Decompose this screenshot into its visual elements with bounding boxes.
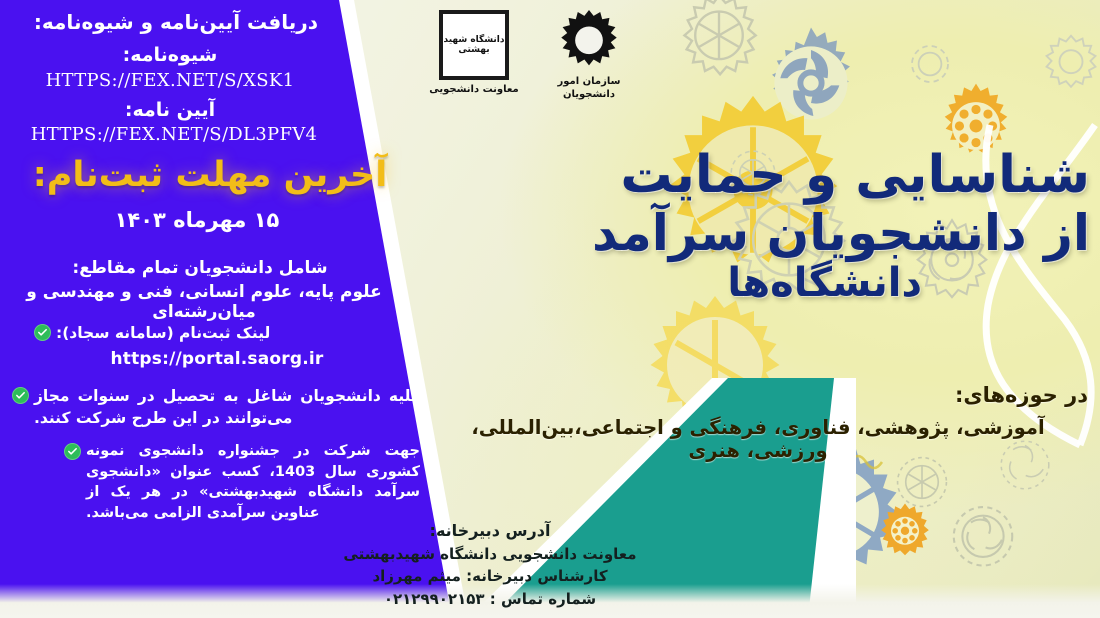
gear-outline-far-right	[1035, 30, 1100, 102]
university-logo-caption: معاونت دانشجویی	[418, 83, 530, 96]
university-emblem-text: دانشگاه شهید بهشتی	[443, 35, 505, 56]
contact-department: معاونت دانشجویی دانشگاه شهیدبهشتی	[300, 543, 680, 566]
headline-line-1: شناسایی و حمایت	[410, 148, 1090, 203]
bullet-text: جهت شرکت در جشنواره دانشجوی نمونه کشوری …	[86, 441, 420, 523]
headline-line-2: از دانشجویان سرآمد	[410, 207, 1090, 260]
method-url[interactable]: HTTPS://FEX.NET/S/XSK1	[0, 70, 340, 91]
bullet-item: کلیه دانشجویان شاغل به تحصیل در سنوات مج…	[12, 385, 420, 429]
fields-block: در حوزه‌های: آموزشی، پژوهشی، فناوری، فره…	[428, 383, 1088, 462]
deadline-date: ۱۵ مهرماه ۱۴۰۳	[0, 208, 394, 232]
scope-line-2: علوم پایه، علوم انسانی، فنی و مهندسی و م…	[0, 282, 408, 322]
check-circle-icon	[34, 324, 51, 341]
contact-person: کارشناس دبیرخانه: میثم مهرزاد	[300, 565, 680, 588]
registration-url[interactable]: https://portal.saorg.ir	[34, 347, 370, 371]
contact-block: آدرس دبیرخانه: معاونت دانشجویی دانشگاه ش…	[300, 519, 680, 611]
fields-list: آموزشی، پژوهشی، فناوری، فرهنگی و اجتماعی…	[428, 416, 1088, 462]
regulation-label: آیین نامه:	[0, 99, 340, 121]
downloads-heading: دریافت آیین‌نامه و شیوه‌نامه:	[0, 8, 352, 37]
gear-outline-top-a	[665, 0, 773, 98]
scope-line-1: شامل دانشجویان تمام مقاطع:	[0, 258, 400, 278]
deadline-title: آخرین مهلت ثبت‌نام:	[0, 155, 420, 195]
fields-title: در حوزه‌های:	[428, 383, 1088, 407]
organization-emblem-icon	[553, 6, 625, 72]
university-logo: دانشگاه شهید بهشتی معاونت دانشجویی	[418, 10, 530, 96]
bullet-item: لینک ثبت‌نام (سامانه سجاد): https://port…	[34, 322, 370, 371]
organization-logo-caption-1: سازمان امور	[530, 75, 648, 88]
organization-logo-caption-2: دانشجویان	[530, 88, 648, 101]
poster-canvas: دریافت آیین‌نامه و شیوه‌نامه: شیوه‌نامه:…	[0, 0, 1100, 618]
bullet-text: لینک ثبت‌نام (سامانه سجاد):	[56, 322, 270, 344]
gear-outline-small-top	[900, 34, 960, 94]
university-emblem-icon: دانشگاه شهید بهشتی	[439, 10, 509, 80]
bullet-item: جهت شرکت در جشنواره دانشجوی نمونه کشوری …	[64, 441, 420, 523]
check-circle-icon	[12, 387, 29, 404]
organization-logo: سازمان امور دانشجویان	[530, 6, 648, 101]
bullet-text: کلیه دانشجویان شاغل به تحصیل در سنوات مج…	[34, 385, 420, 429]
bullet-list: لینک ثبت‌نام (سامانه سجاد): https://port…	[0, 322, 420, 532]
contact-title: آدرس دبیرخانه:	[300, 519, 680, 543]
logo-group: دانشگاه شهید بهشتی معاونت دانشجویی سازما…	[418, 6, 648, 118]
regulation-url[interactable]: HTTPS://FEX.NET/S/DL3PFV4	[0, 124, 348, 145]
headline-block: شناسایی و حمایت از دانشجویان سرآمد دانشگ…	[410, 148, 1090, 305]
check-circle-icon	[64, 443, 81, 460]
headline-line-3: دانشگاه‌ها	[410, 262, 1090, 304]
method-label: شیوه‌نامه:	[0, 44, 340, 66]
contact-phone: شماره تماس : ۰۲۱۲۹۹۰۲۱۵۳	[300, 588, 680, 611]
